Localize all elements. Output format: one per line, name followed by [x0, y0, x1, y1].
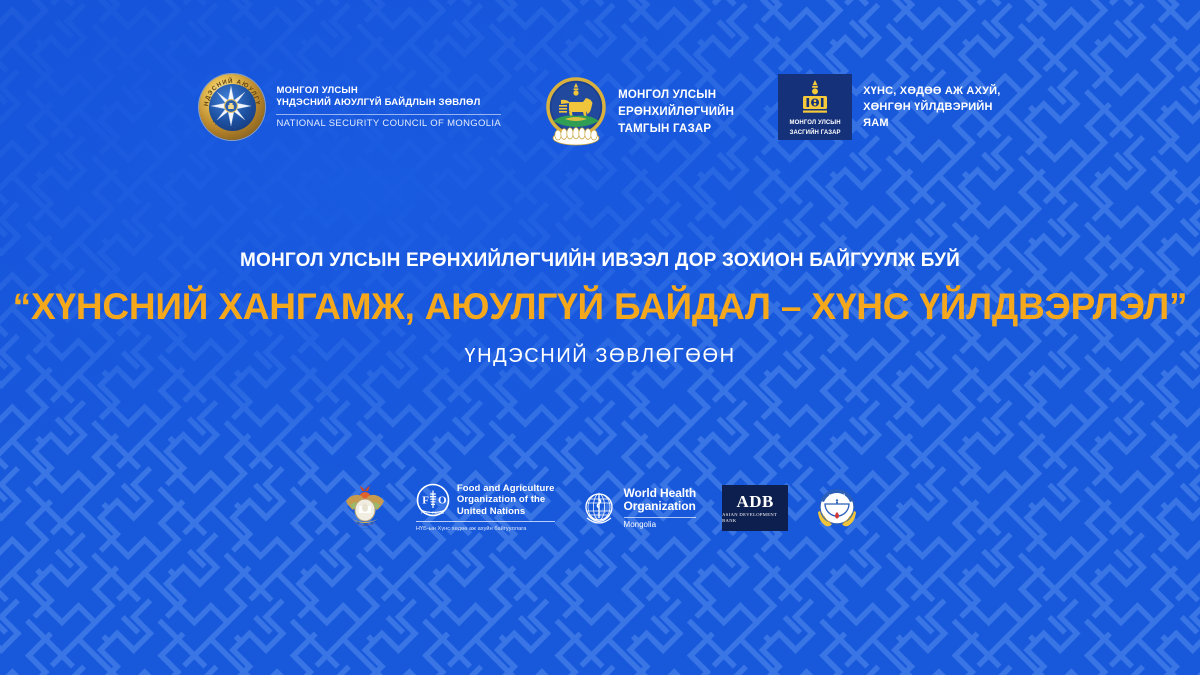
- event-headline: “ХҮНСНИЙ ХАНГАМЖ, АЮУЛГҮЙ БАЙДАЛ – ХҮНС …: [0, 281, 1200, 333]
- president-office-logo-text: МОНГОЛ УЛСЫН ЕРӨНХИЙЛӨГЧИЙН ТАМГЫН ГАЗАР: [618, 87, 734, 138]
- organizer-logo-band: УНДЭСНИЙ АЮУЛГҮЙ БАЙДЛЫН ЗӨВЛӨЛ: [0, 74, 1200, 150]
- partner-logo-band: F O FIAT PANIS Food and Agriculture Orga…: [0, 481, 1200, 535]
- mongolia-state-emblem-icon: [545, 74, 607, 150]
- adb-acronym: ADB: [736, 493, 773, 511]
- nsc-divider: [276, 114, 501, 115]
- partner-food-bowl-wheat-emblem: ХҮНСНИЙ: [814, 481, 860, 535]
- fao-name-line-2: Organization of the: [457, 494, 555, 506]
- who-name-line-1: World Health: [624, 487, 697, 501]
- adb-full-name: ASIAN DEVELOPMENT BANK: [722, 512, 788, 524]
- who-globe-icon: [581, 490, 617, 526]
- mongolia-coat-of-arms-icon: [340, 483, 390, 533]
- soyombo-icon: [800, 79, 830, 117]
- bowl-and-wheat-roundel-icon: ХҮНСНИЙ: [814, 485, 860, 531]
- svg-text:ХҮНСНИЙ: ХҮНСНИЙ: [829, 493, 846, 497]
- fao-name-line-3: United Nations: [457, 506, 555, 518]
- logo-ministry-food-agriculture: МОНГОЛ УЛСЫН ЗАСГИЙН ГАЗАР ХҮНС, ХӨДӨӨ А…: [778, 74, 1000, 140]
- nsc-logo-text: МОНГОЛ УЛСЫН ҮНДЭСНИЙ АЮУЛГҮЙ БАЙДЛЫН ЗӨ…: [276, 85, 501, 130]
- nsc-line-2: ҮНДЭСНИЙ АЮУЛГҮЙ БАЙДЛЫН ЗӨВЛӨЛ: [276, 97, 501, 110]
- partner-mongolia-state-crest: [340, 481, 390, 535]
- president-line-2: ЕРӨНХИЙЛӨГЧИЙН: [618, 104, 734, 121]
- partner-who-mongolia: World Health Organization Mongolia: [581, 481, 697, 535]
- ministry-box-caption-2: ЗАСГИЙН ГАЗАР: [790, 129, 841, 137]
- president-line-1: МОНГОЛ УЛСЫН: [618, 87, 734, 104]
- event-title-block: МОНГОЛ УЛСЫН ЕРӨНХИЙЛӨГЧИЙН ИВЭЭЛ ДОР ЗО…: [0, 248, 1200, 370]
- ministry-line-1: ХҮНС, ХӨДӨӨ АЖ АХУЙ,: [863, 83, 1000, 99]
- svg-text:O: O: [438, 495, 447, 507]
- nsc-line-1: МОНГОЛ УЛСЫН: [276, 85, 501, 98]
- logo-national-security-council: УНДЭСНИЙ АЮУЛГҮЙ БАЙДЛЫН ЗӨВЛӨЛ: [199, 74, 501, 140]
- partner-adb: ADB ASIAN DEVELOPMENT BANK: [722, 481, 788, 535]
- ministry-logo-text: ХҮНС, ХӨДӨӨ АЖ АХУЙ, ХӨНГӨН ҮЙЛДВЭРИЙН Я…: [863, 83, 1000, 131]
- event-patronage-line: МОНГОЛ УЛСЫН ЕРӨНХИЙЛӨГЧИЙН ИВЭЭЛ ДОР ЗО…: [0, 248, 1200, 274]
- svg-text:FIAT PANIS: FIAT PANIS: [421, 511, 445, 515]
- adb-wordmark-box: ADB ASIAN DEVELOPMENT BANK: [722, 485, 788, 531]
- ministry-box-caption-1: МОНГОЛ УЛСЫН: [790, 119, 841, 127]
- ministry-line-2: ХӨНГӨН ҮЙЛДВЭРИЙН: [863, 99, 1000, 115]
- logo-office-of-the-president: МОНГОЛ УЛСЫН ЕРӨНХИЙЛӨГЧИЙН ТАМГЫН ГАЗАР: [545, 74, 734, 150]
- ministry-line-3: ЯАМ: [863, 115, 1000, 131]
- nsc-line-3-english: NATIONAL SECURITY COUNCIL OF MONGOLIA: [276, 118, 501, 130]
- who-country-label: Mongolia: [624, 520, 697, 530]
- fao-tagline-mongolian: НҮБ-ын Хүнс хөдөө аж ахуйн байгууллага: [416, 525, 555, 533]
- partner-fao: F O FIAT PANIS Food and Agriculture Orga…: [416, 481, 555, 535]
- president-line-3: ТАМГЫН ГАЗАР: [618, 121, 734, 138]
- event-subtitle: ҮНДЭСНИЙ ЗӨВЛӨГӨӨН: [0, 342, 1200, 370]
- nsc-star-emblem-icon: УНДЭСНИЙ АЮУЛГҮЙ БАЙДЛЫН ЗӨВЛӨЛ: [199, 74, 265, 140]
- svg-text:F: F: [422, 495, 429, 507]
- fao-wheat-icon: F O FIAT PANIS: [416, 483, 450, 517]
- fao-divider: [416, 521, 555, 522]
- fao-name-line-1: Food and Agriculture: [457, 483, 555, 495]
- who-divider: [624, 517, 697, 518]
- government-of-mongolia-emblem-box: МОНГОЛ УЛСЫН ЗАСГИЙН ГАЗАР: [778, 74, 852, 140]
- who-name-line-2: Organization: [624, 500, 697, 514]
